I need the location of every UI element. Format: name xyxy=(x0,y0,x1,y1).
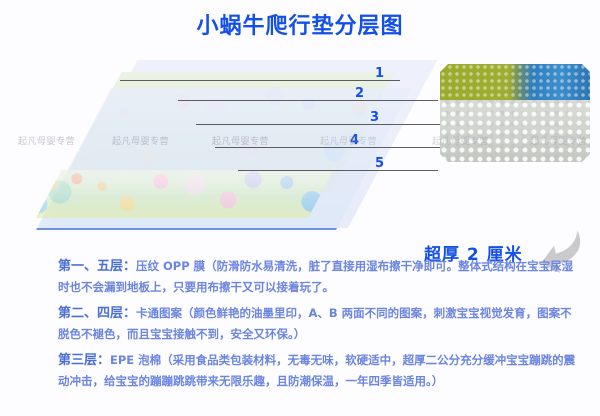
page-title: 小蜗牛爬行垫分层图 xyxy=(0,8,600,40)
layer-description-heading-2: 第二、四层： xyxy=(58,306,136,321)
leader-line-4 xyxy=(215,147,445,148)
watermark-text: 起凡母婴专营 xyxy=(530,134,587,147)
watermark-text: 起凡母婴专营 xyxy=(432,134,489,147)
mat-layer-print-bottom xyxy=(36,170,334,218)
leader-line-2 xyxy=(178,100,438,101)
leader-line-5 xyxy=(238,170,438,171)
layer-number-5: 5 xyxy=(375,156,384,171)
watermark-text: 起凡母婴专营 xyxy=(320,134,377,147)
layer-description-heading-3: 第三层： xyxy=(58,353,110,368)
layer-description-body-3: EPE 泡棉（采用食品类包装材料，无毒无味，软硬适中，超厚二公分充分缓冲宝宝蹦跳… xyxy=(58,353,575,388)
layer-number-1: 1 xyxy=(375,66,384,81)
cross-section-surface-layer xyxy=(440,64,590,102)
layer-description-list: 第一、五层：压纹 OPP 膜（防滑防水易清洗，脏了直接用湿布擦干净即可。整体式结… xyxy=(58,256,578,397)
watermark-text: 起凡母婴专营 xyxy=(18,134,75,147)
layer-diagram-illustration: 1 2 3 4 5 超厚 2 厘米 起凡母婴专营 起凡母婴专营 起凡母婴专营 起… xyxy=(0,52,600,242)
layer-description-body-2: 卡通图案（颜色鲜艳的油墨里印，A、B 两面不同的图案，刺激宝宝视觉发育，图案不脱… xyxy=(58,306,572,341)
leader-line-1 xyxy=(120,80,400,81)
layer-number-2: 2 xyxy=(355,86,364,101)
layer-number-3: 3 xyxy=(370,110,379,125)
print-wash-overlay-lower xyxy=(36,170,334,218)
layer-description-heading-1: 第一、五层： xyxy=(58,259,136,274)
leader-line-3 xyxy=(196,124,446,125)
layer-description-item-1: 第一、五层：压纹 OPP 膜（防滑防水易清洗，脏了直接用湿布擦干净即可。整体式结… xyxy=(58,256,578,298)
layer-description-body-1: 压纹 OPP 膜（防滑防水易清洗，脏了直接用湿布擦干净即可。整体式结构在宝宝尿湿… xyxy=(58,259,573,294)
layer-description-item-3: 第三层：EPE 泡棉（采用食品类包装材料，无毒无味，软硬适中，超厚二公分充分缓冲… xyxy=(58,350,578,392)
layer-description-item-2: 第二、四层：卡通图案（颜色鲜艳的油墨里印，A、B 两面不同的图案，刺激宝宝视觉发… xyxy=(58,303,578,345)
watermark-text: 起凡母婴专营 xyxy=(112,134,169,147)
watermark-text: 起凡母婴专营 xyxy=(212,134,269,147)
cross-section-epe-foam xyxy=(440,100,590,162)
cross-section-block xyxy=(440,64,590,164)
